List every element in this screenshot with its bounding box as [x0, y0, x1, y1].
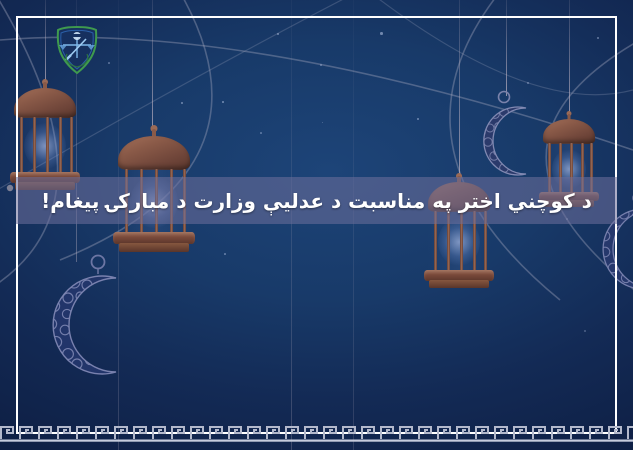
ministry-of-justice-logo — [52, 24, 102, 76]
crescent-moon-large-bottom-left — [24, 252, 144, 380]
headline-banner: د کوچني اختر په مناسبت د عدلیې وزارت د م… — [16, 177, 617, 224]
crescent-moon-hanging-right — [468, 88, 548, 180]
meander-border — [0, 422, 633, 442]
headline-text: د کوچني اختر په مناسبت د عدلیې وزارت د م… — [41, 189, 592, 213]
eid-greeting-poster: د کوچني اختر په مناسبت د عدلیې وزارت د م… — [0, 0, 633, 450]
